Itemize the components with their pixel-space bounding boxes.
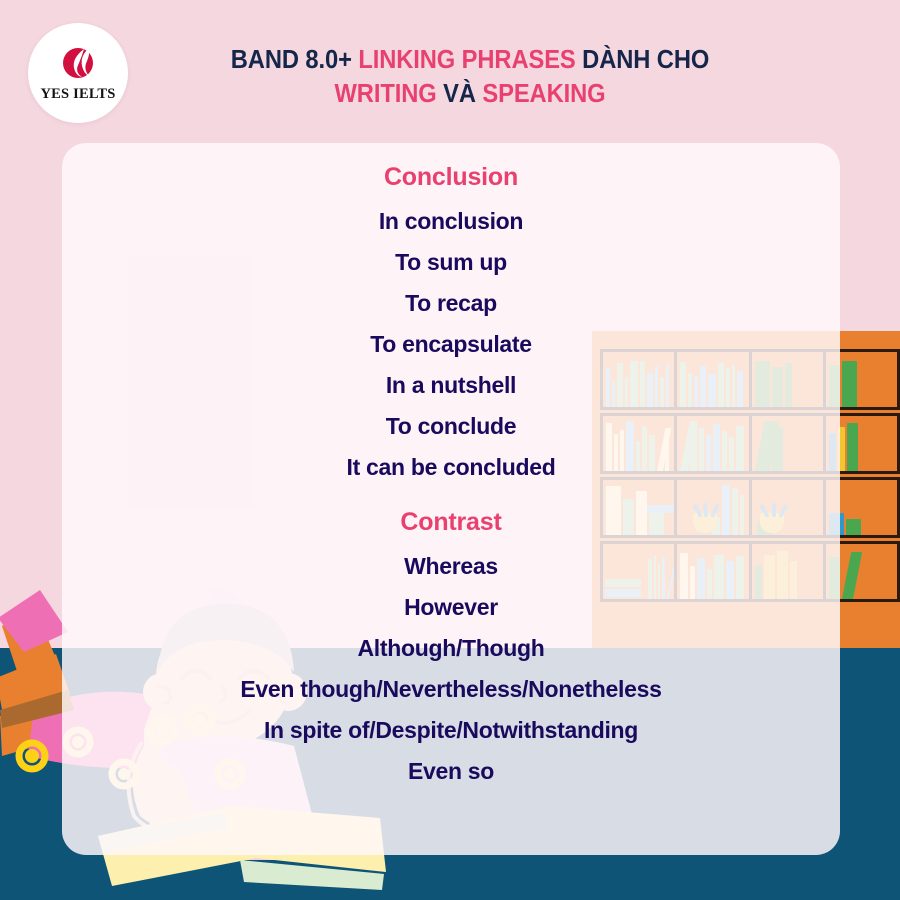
phrase-item: However — [62, 596, 840, 619]
phrase-item: Even so — [62, 760, 840, 783]
logo: YES IELTS — [28, 23, 128, 123]
flame-icon — [56, 44, 100, 84]
phrase-item: In conclusion — [62, 210, 840, 233]
phrase-item: To encapsulate — [62, 333, 840, 356]
logo-text: YES IELTS — [40, 86, 115, 103]
title-part-writing: WRITING — [335, 80, 444, 108]
header: YES IELTS BAND 8.0+ LINKING PHRASES DÀNH… — [0, 0, 900, 143]
phrase-item: Even though/Nevertheless/Nonetheless — [62, 678, 840, 701]
poster: YES IELTS BAND 8.0+ LINKING PHRASES DÀNH… — [0, 0, 900, 900]
phrase-item: In a nutshell — [62, 374, 840, 397]
phrase-item: Although/Though — [62, 637, 840, 660]
section-conclusion-phrases: In conclusion To sum up To recap To enca… — [62, 210, 840, 479]
phrase-item: Whereas — [62, 555, 840, 578]
phrase-list-container: Conclusion In conclusion To sum up To re… — [62, 143, 840, 855]
phrase-item: To recap — [62, 292, 840, 315]
phrase-item: In spite of/Despite/Notwithstanding — [62, 719, 840, 742]
section-heading-conclusion: Conclusion — [62, 163, 840, 192]
title-part-band: BAND 8.0+ — [231, 46, 359, 74]
title-part-va: VÀ — [443, 80, 482, 108]
phrase-item: To conclude — [62, 415, 840, 438]
title-part-speaking: SPEAKING — [482, 80, 605, 108]
phrase-item: To sum up — [62, 251, 840, 274]
page-title: BAND 8.0+ LINKING PHRASES DÀNH CHO WRITI… — [182, 44, 759, 111]
phrase-item: It can be concluded — [62, 456, 840, 479]
section-contrast-phrases: Whereas However Although/Though Even tho… — [62, 555, 840, 783]
title-part-linking: LINKING PHRASES — [358, 46, 582, 74]
section-heading-contrast: Contrast — [62, 508, 840, 537]
title-part-danhcho: DÀNH CHO — [582, 46, 709, 74]
